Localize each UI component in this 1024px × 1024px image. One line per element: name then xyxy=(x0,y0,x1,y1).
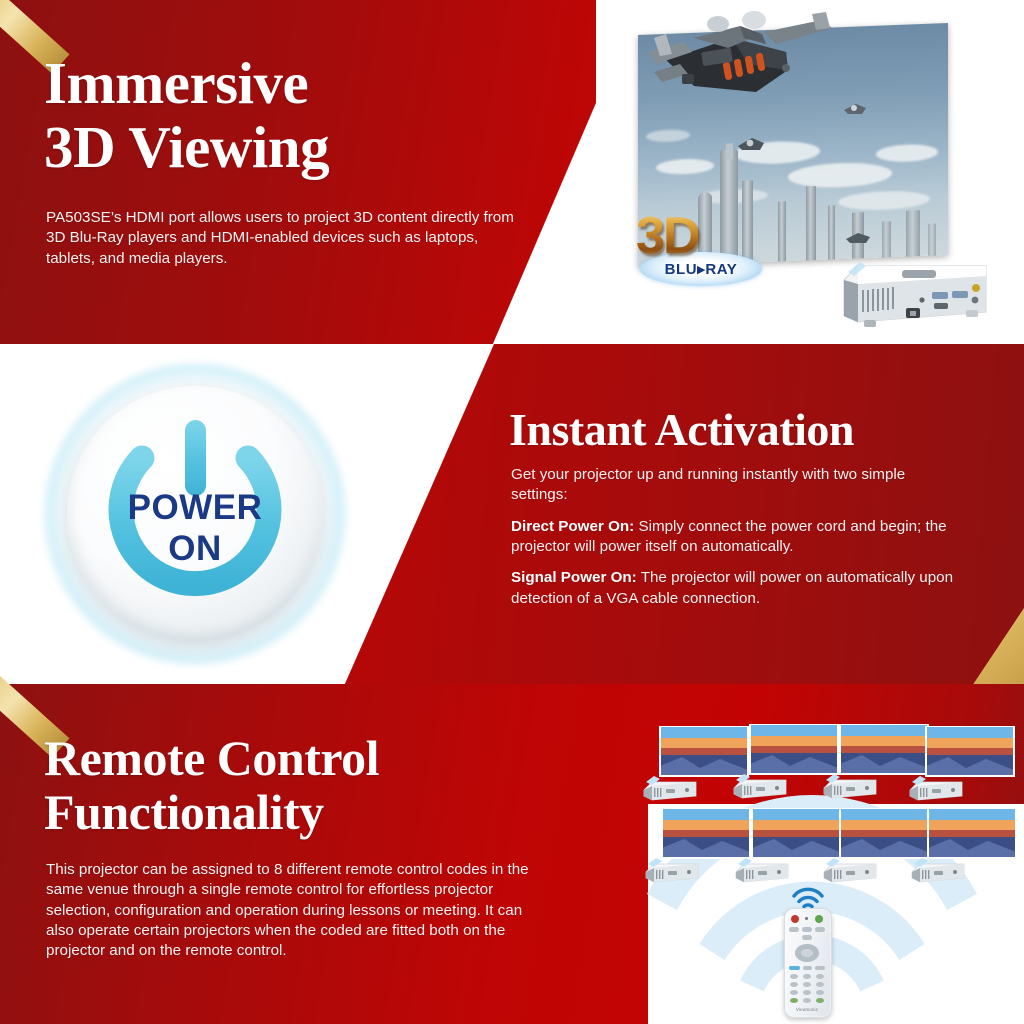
power-button-label: POWER ON xyxy=(67,490,323,566)
bullet-1-label: Direct Power On: xyxy=(511,518,634,535)
remote-btn[interactable] xyxy=(815,927,825,932)
remote-keypad-btn[interactable] xyxy=(816,974,824,979)
section-3-title-line2: Functionality xyxy=(44,785,379,839)
section-3-title-line1: Remote Control xyxy=(44,731,379,785)
remote-keypad-btn[interactable] xyxy=(803,982,811,987)
bullet-2-label: Signal Power On: xyxy=(511,569,637,586)
remote-btn[interactable] xyxy=(802,927,812,932)
remote-brand-label: ViewSonic xyxy=(784,1007,830,1012)
remote-btn[interactable] xyxy=(803,966,812,970)
section-1-body: PA503SE’s HDMI port allows users to proj… xyxy=(46,208,530,269)
remote-keypad-btn[interactable] xyxy=(816,990,824,995)
section-2-body: Get your projector up and running instan… xyxy=(511,465,963,609)
remote-keypad-btn[interactable] xyxy=(803,990,811,995)
section-1-title-line2: 3D Viewing xyxy=(44,116,329,180)
section-1-title: Immersive 3D Viewing xyxy=(44,52,329,179)
remote-control-device: ViewSonic xyxy=(784,908,830,1016)
small-spaceship-icon-3 xyxy=(844,228,872,246)
projector-device-image xyxy=(836,250,996,340)
remote-keypad-btn-green[interactable] xyxy=(790,998,798,1003)
section-3-body-text: This projector can be assigned to 8 diff… xyxy=(46,860,536,962)
bluray-logo-text: BLU▸RAY xyxy=(640,260,762,278)
section-1-body-text: PA503SE’s HDMI port allows users to proj… xyxy=(46,208,530,269)
section-2-intro: Get your projector up and running instan… xyxy=(511,465,963,506)
infographic-page: 3D BLU▸RAY xyxy=(0,0,1024,1024)
power-on-button-graphic: POWER ON xyxy=(45,364,345,664)
section-1-title-line1: Immersive xyxy=(44,52,329,116)
remote-keypad-btn[interactable] xyxy=(816,982,824,987)
small-spaceship-icon xyxy=(842,100,868,118)
remote-keypad-btn[interactable] xyxy=(790,974,798,979)
section-3-body: This projector can be assigned to 8 diff… xyxy=(46,860,536,962)
remote-btn[interactable] xyxy=(802,935,812,940)
projector-screen-pair xyxy=(910,808,1018,886)
wifi-signal-icon xyxy=(791,884,825,908)
section-3-title: Remote Control Functionality xyxy=(44,731,379,839)
projector-screen-pair xyxy=(908,726,1016,804)
remote-btn[interactable] xyxy=(815,966,825,970)
remote-power-button[interactable] xyxy=(791,915,799,923)
section-2-bullet-2: Signal Power On: The projector will powe… xyxy=(511,568,963,609)
3d-bluray-logo: 3D BLU▸RAY xyxy=(632,206,762,290)
power-label-line2: ON xyxy=(67,531,323,566)
power-label-line1: POWER xyxy=(67,490,323,525)
remote-btn-blue[interactable] xyxy=(789,966,800,970)
remote-keypad-btn[interactable] xyxy=(790,982,798,987)
3d-projection-photo: 3D BLU▸RAY xyxy=(596,0,1024,346)
remote-keypad-btn[interactable] xyxy=(790,990,798,995)
section-2-bullet-1: Direct Power On: Simply connect the powe… xyxy=(511,517,963,558)
small-spaceship-icon-2 xyxy=(736,134,766,154)
section-2-title: Instant Activation xyxy=(509,405,854,455)
remote-keypad-btn-green[interactable] xyxy=(816,998,824,1003)
3d-logo-text: 3D xyxy=(636,206,698,266)
remote-ok-button[interactable] xyxy=(801,949,813,957)
remote-keypad-btn[interactable] xyxy=(803,998,811,1003)
remote-btn[interactable] xyxy=(789,927,799,932)
spaceship-graphic xyxy=(636,8,842,120)
remote-source-button[interactable] xyxy=(815,915,823,923)
remote-led xyxy=(805,917,808,920)
remote-keypad-btn[interactable] xyxy=(803,974,811,979)
